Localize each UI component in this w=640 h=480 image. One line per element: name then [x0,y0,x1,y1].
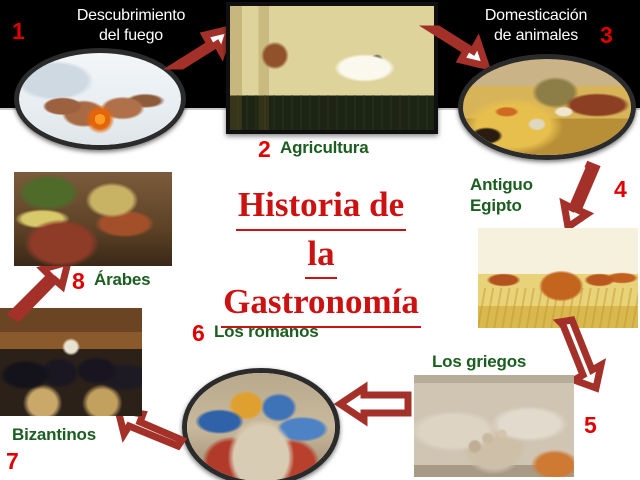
title-line-2: la [305,231,336,280]
step-label-3: Domesticación de animales [462,6,610,46]
step-label-4: Antiguo Egipto [470,174,533,217]
byzantine-meal-art [0,308,142,416]
arab-dishes-art [14,172,172,266]
ancient-egypt-harvest-image[interactable] [478,228,638,328]
greek-relief-image[interactable] [414,375,574,477]
step-number-8: 8 [72,268,85,295]
arrow-fire-to-agriculture [172,22,234,74]
title-line-3: Gastronomía [221,279,421,328]
step-number-4: 4 [614,176,627,203]
animal-domestication-image[interactable] [458,54,636,160]
byzantine-meal-image[interactable] [0,308,142,416]
step-label-7: Bizantinos [12,425,96,444]
step-number-7: 7 [6,448,19,475]
page-title: Historia de la Gastronomía [186,182,456,328]
arrow-greeks-to-romans [336,385,412,429]
step-label-5: Los griegos [432,352,526,371]
infographic-poster: 1 Descubrimiento del fuego 2 Agricultura… [0,0,640,480]
greek-relief-art [414,375,574,477]
arab-dishes-image[interactable] [14,172,172,266]
step-label-2: Agricultura [280,138,368,157]
ancient-egypt-harvest-art [478,228,638,328]
step-number-1: 1 [12,18,25,45]
title-line-1: Historia de [236,182,406,231]
egyptian-ploughing-art [230,6,434,130]
animal-domestication-art [463,59,631,155]
egyptian-ploughing-image[interactable] [226,2,438,134]
arrow-domestication-to-egypt [556,160,604,232]
prehistoric-fire-art [19,53,181,145]
step-label-8: Árabes [94,270,150,289]
step-number-3: 3 [600,22,613,49]
prehistoric-fire-image[interactable] [14,48,186,150]
step-number-5: 5 [584,412,597,439]
roman-banquet-image[interactable] [182,368,340,480]
step-number-2: 2 [258,136,271,163]
roman-banquet-art [187,373,335,480]
